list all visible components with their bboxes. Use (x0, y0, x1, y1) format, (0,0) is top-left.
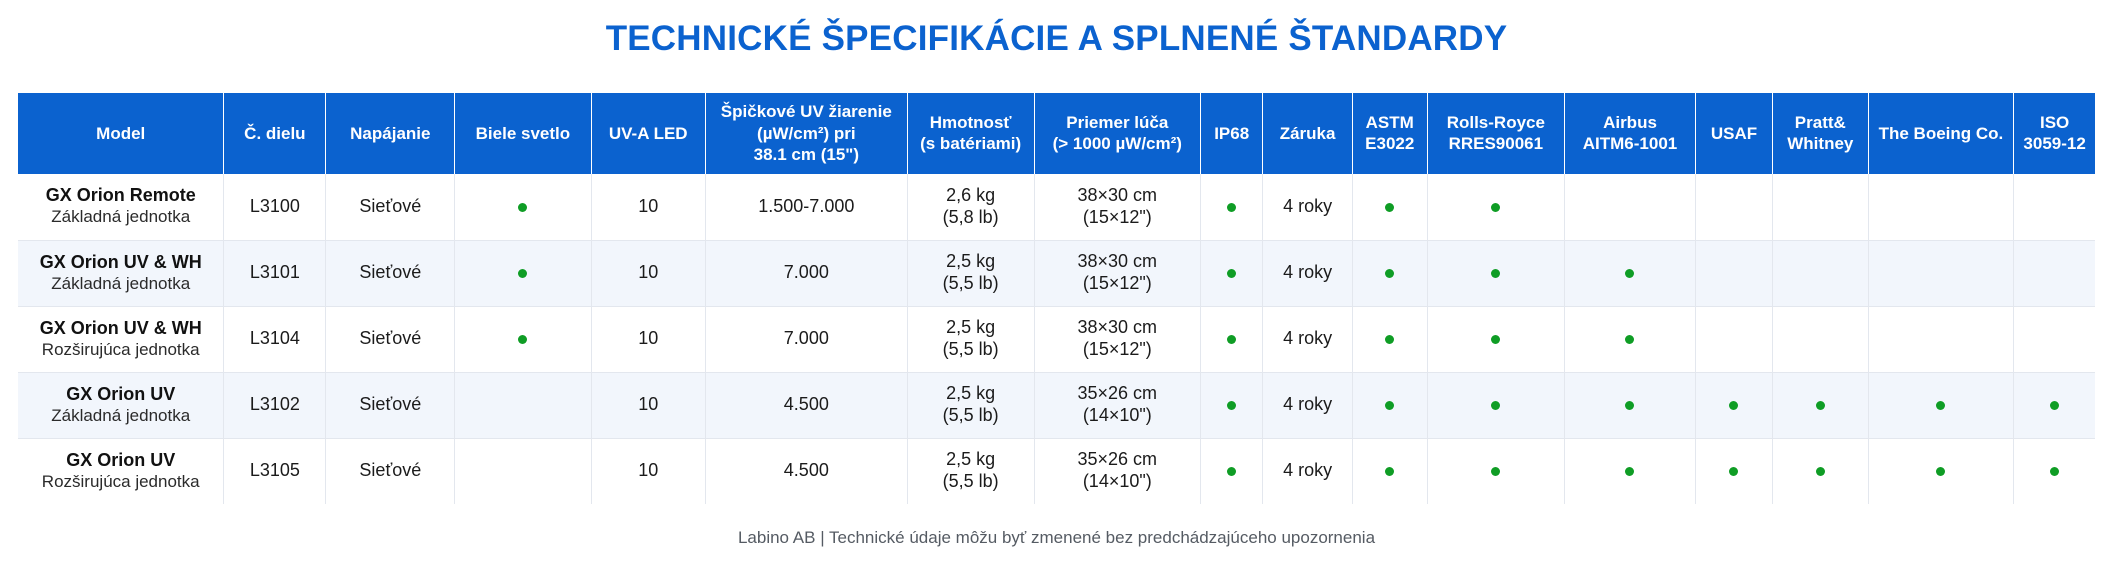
cell-astm (1352, 438, 1427, 504)
cell-uv-irradiance-value: 7.000 (784, 262, 829, 282)
table-row: GX Orion UV & WHRozširujúca jednotkaL310… (18, 306, 2095, 372)
cell-pratt-whitney (1772, 174, 1868, 240)
cell-iso (2014, 438, 2095, 504)
column-header-line: Biele svetlo (459, 123, 586, 145)
cell-weight-line2: (5,5 lb) (913, 471, 1029, 493)
cell-rolls-royce (1427, 438, 1564, 504)
check-dot-icon (1625, 269, 1634, 278)
check-dot-icon (1385, 401, 1394, 410)
cell-white-light (455, 240, 591, 306)
cell-rolls-royce (1427, 306, 1564, 372)
column-header-line: 38.1 cm (15") (710, 144, 903, 166)
check-dot-icon (1936, 467, 1945, 476)
check-dot-icon (1625, 335, 1634, 344)
column-header-line: Airbus (1569, 112, 1691, 134)
cell-part-number: L3100 (224, 174, 326, 240)
check-dot-icon (1936, 401, 1945, 410)
cell-beam-diameter: 35×26 cm(14×10") (1034, 438, 1200, 504)
column-header-7: Priemer lúča(> 1000 µW/cm²) (1034, 93, 1200, 174)
cell-beam-diameter-line2: (15×12") (1040, 339, 1195, 361)
cell-boeing (1868, 306, 2014, 372)
spec-table-container: ModelČ. dieluNapájanieBiele svetloUV-A L… (18, 61, 2095, 504)
cell-model: GX Orion UVRozširujúca jednotka (18, 438, 224, 504)
cell-boeing (1868, 174, 2014, 240)
cell-uv-irradiance: 7.000 (705, 240, 907, 306)
column-header-line: E3022 (1357, 133, 1423, 155)
column-header-11: Rolls-RoyceRRES90061 (1427, 93, 1564, 174)
model-name: GX Orion UV (23, 450, 218, 472)
cell-beam-diameter-line2: (15×12") (1040, 207, 1195, 229)
table-row: GX Orion RemoteZákladná jednotkaL3100Sie… (18, 174, 2095, 240)
column-header-line: Pratt& (1777, 112, 1864, 134)
column-header-line: Rolls-Royce (1432, 112, 1560, 134)
cell-boeing (1868, 372, 2014, 438)
column-header-line: Záruka (1267, 123, 1347, 145)
cell-power-value: Sieťové (359, 328, 421, 348)
column-header-line: Č. dielu (228, 123, 321, 145)
cell-part-number-value: L3100 (250, 196, 300, 216)
cell-uva-led-value: 10 (638, 394, 658, 414)
cell-uva-led: 10 (591, 306, 705, 372)
cell-weight: 2,5 kg(5,5 lb) (907, 438, 1034, 504)
check-dot-icon (1227, 269, 1236, 278)
cell-warranty: 4 roky (1263, 372, 1352, 438)
column-header-line: USAF (1700, 123, 1768, 145)
check-dot-icon (1625, 401, 1634, 410)
cell-iso (2014, 174, 2095, 240)
cell-white-light (455, 174, 591, 240)
cell-uva-led: 10 (591, 174, 705, 240)
check-dot-icon (1729, 401, 1738, 410)
model-name: GX Orion UV & WH (23, 318, 218, 340)
check-dot-icon (2050, 467, 2059, 476)
model-name: GX Orion Remote (23, 185, 218, 207)
cell-usaf (1696, 306, 1773, 372)
model-subtitle: Rozširujúca jednotka (23, 340, 218, 361)
footer-note: Labino AB | Technické údaje môžu byť zme… (0, 504, 2113, 548)
check-dot-icon (1729, 467, 1738, 476)
spec-sheet-page: TECHNICKÉ ŠPECIFIKÁCIE A SPLNENÉ ŠTANDAR… (0, 0, 2113, 588)
cell-uva-led-value: 10 (638, 460, 658, 480)
cell-power: Sieťové (326, 306, 455, 372)
model-subtitle: Základná jednotka (23, 207, 218, 228)
cell-part-number: L3104 (224, 306, 326, 372)
cell-warranty-value: 4 roky (1283, 460, 1332, 480)
cell-power-value: Sieťové (359, 460, 421, 480)
cell-power-value: Sieťové (359, 262, 421, 282)
column-header-15: The Boeing Co. (1868, 93, 2014, 174)
column-header-2: Napájanie (326, 93, 455, 174)
table-row: GX Orion UVRozširujúca jednotkaL3105Sieť… (18, 438, 2095, 504)
column-header-14: Pratt&Whitney (1772, 93, 1868, 174)
cell-beam-diameter: 38×30 cm(15×12") (1034, 174, 1200, 240)
table-body: GX Orion RemoteZákladná jednotkaL3100Sie… (18, 174, 2095, 504)
cell-uv-irradiance-value: 4.500 (784, 394, 829, 414)
column-header-line: IP68 (1205, 123, 1258, 145)
model-name: GX Orion UV & WH (23, 252, 218, 274)
column-header-line: Whitney (1777, 133, 1864, 155)
cell-pratt-whitney (1772, 240, 1868, 306)
cell-uv-irradiance: 7.000 (705, 306, 907, 372)
cell-weight-line1: 2,5 kg (913, 251, 1029, 273)
check-dot-icon (518, 269, 527, 278)
cell-astm (1352, 306, 1427, 372)
cell-beam-diameter: 35×26 cm(14×10") (1034, 372, 1200, 438)
column-header-line: AITM6-1001 (1569, 133, 1691, 155)
cell-beam-diameter-line1: 35×26 cm (1040, 383, 1195, 405)
model-subtitle: Základná jednotka (23, 274, 218, 295)
cell-astm (1352, 372, 1427, 438)
check-dot-icon (1227, 203, 1236, 212)
cell-ip68 (1200, 306, 1262, 372)
cell-weight: 2,5 kg(5,5 lb) (907, 240, 1034, 306)
cell-weight-line1: 2,6 kg (913, 185, 1029, 207)
cell-beam-diameter-line2: (14×10") (1040, 471, 1195, 493)
column-header-6: Hmotnosť(s batériami) (907, 93, 1034, 174)
cell-uva-led-value: 10 (638, 262, 658, 282)
cell-power-value: Sieťové (359, 394, 421, 414)
column-header-5: Špičkové UV žiarenie(µW/cm²) pri38.1 cm … (705, 93, 907, 174)
cell-ip68 (1200, 438, 1262, 504)
column-header-line: 3059-12 (2018, 133, 2091, 155)
column-header-line: Napájanie (330, 123, 450, 145)
cell-model: GX Orion UV & WHRozširujúca jednotka (18, 306, 224, 372)
cell-airbus (1564, 174, 1695, 240)
cell-usaf (1696, 240, 1773, 306)
check-dot-icon (1491, 401, 1500, 410)
cell-model: GX Orion UV & WHZákladná jednotka (18, 240, 224, 306)
column-header-line: RRES90061 (1432, 133, 1560, 155)
column-header-line: (s batériami) (912, 133, 1030, 155)
table-row: GX Orion UVZákladná jednotkaL3102Sieťové… (18, 372, 2095, 438)
cell-airbus (1564, 438, 1695, 504)
cell-usaf (1696, 438, 1773, 504)
check-dot-icon (518, 335, 527, 344)
check-dot-icon (1625, 467, 1634, 476)
cell-beam-diameter-line2: (14×10") (1040, 405, 1195, 427)
cell-weight-line2: (5,5 lb) (913, 339, 1029, 361)
cell-uv-irradiance-value: 1.500-7.000 (758, 196, 854, 216)
cell-uv-irradiance-value: 7.000 (784, 328, 829, 348)
cell-part-number: L3101 (224, 240, 326, 306)
check-dot-icon (1491, 203, 1500, 212)
check-dot-icon (1385, 269, 1394, 278)
cell-weight: 2,6 kg(5,8 lb) (907, 174, 1034, 240)
column-header-12: AirbusAITM6-1001 (1564, 93, 1695, 174)
model-subtitle: Základná jednotka (23, 406, 218, 427)
check-dot-icon (1816, 401, 1825, 410)
cell-part-number: L3105 (224, 438, 326, 504)
cell-airbus (1564, 306, 1695, 372)
column-header-1: Č. dielu (224, 93, 326, 174)
cell-rolls-royce (1427, 174, 1564, 240)
check-dot-icon (1816, 467, 1825, 476)
column-header-13: USAF (1696, 93, 1773, 174)
cell-astm (1352, 174, 1427, 240)
cell-usaf (1696, 174, 1773, 240)
cell-white-light (455, 372, 591, 438)
cell-airbus (1564, 372, 1695, 438)
cell-ip68 (1200, 240, 1262, 306)
check-dot-icon (2050, 401, 2059, 410)
cell-model: GX Orion UVZákladná jednotka (18, 372, 224, 438)
cell-iso (2014, 306, 2095, 372)
cell-uva-led-value: 10 (638, 328, 658, 348)
header-row: ModelČ. dieluNapájanieBiele svetloUV-A L… (18, 93, 2095, 174)
cell-part-number-value: L3101 (250, 262, 300, 282)
check-dot-icon (1385, 335, 1394, 344)
cell-ip68 (1200, 372, 1262, 438)
cell-boeing (1868, 438, 2014, 504)
column-header-4: UV-A LED (591, 93, 705, 174)
cell-warranty-value: 4 roky (1283, 196, 1332, 216)
specifications-table: ModelČ. dieluNapájanieBiele svetloUV-A L… (18, 93, 2095, 504)
cell-warranty: 4 roky (1263, 438, 1352, 504)
cell-uva-led-value: 10 (638, 196, 658, 216)
column-header-line: The Boeing Co. (1873, 123, 2010, 145)
column-header-8: IP68 (1200, 93, 1262, 174)
cell-warranty: 4 roky (1263, 240, 1352, 306)
cell-white-light (455, 438, 591, 504)
table-header: ModelČ. dieluNapájanieBiele svetloUV-A L… (18, 93, 2095, 174)
cell-beam-diameter: 38×30 cm(15×12") (1034, 306, 1200, 372)
cell-white-light (455, 306, 591, 372)
column-header-10: ASTME3022 (1352, 93, 1427, 174)
cell-pratt-whitney (1772, 372, 1868, 438)
check-dot-icon (1491, 269, 1500, 278)
cell-pratt-whitney (1772, 306, 1868, 372)
cell-iso (2014, 240, 2095, 306)
cell-weight: 2,5 kg(5,5 lb) (907, 372, 1034, 438)
column-header-line: (µW/cm²) pri (710, 123, 903, 145)
cell-uv-irradiance: 4.500 (705, 372, 907, 438)
table-row: GX Orion UV & WHZákladná jednotkaL3101Si… (18, 240, 2095, 306)
check-dot-icon (1385, 203, 1394, 212)
column-header-line: Priemer lúča (1039, 112, 1196, 134)
cell-weight-line1: 2,5 kg (913, 383, 1029, 405)
cell-model: GX Orion RemoteZákladná jednotka (18, 174, 224, 240)
cell-weight-line1: 2,5 kg (913, 449, 1029, 471)
cell-part-number-value: L3102 (250, 394, 300, 414)
cell-uva-led: 10 (591, 240, 705, 306)
cell-uva-led: 10 (591, 438, 705, 504)
cell-warranty-value: 4 roky (1283, 328, 1332, 348)
cell-boeing (1868, 240, 2014, 306)
cell-ip68 (1200, 174, 1262, 240)
cell-power: Sieťové (326, 372, 455, 438)
page-title: TECHNICKÉ ŠPECIFIKÁCIE A SPLNENÉ ŠTANDAR… (0, 0, 2113, 61)
model-subtitle: Rozširujúca jednotka (23, 472, 218, 493)
cell-airbus (1564, 240, 1695, 306)
cell-usaf (1696, 372, 1773, 438)
cell-beam-diameter-line1: 38×30 cm (1040, 317, 1195, 339)
cell-power: Sieťové (326, 240, 455, 306)
cell-warranty: 4 roky (1263, 306, 1352, 372)
cell-weight-line1: 2,5 kg (913, 317, 1029, 339)
cell-uva-led: 10 (591, 372, 705, 438)
cell-rolls-royce (1427, 240, 1564, 306)
cell-warranty-value: 4 roky (1283, 262, 1332, 282)
cell-part-number-value: L3104 (250, 328, 300, 348)
cell-power-value: Sieťové (359, 196, 421, 216)
cell-power: Sieťové (326, 174, 455, 240)
column-header-9: Záruka (1263, 93, 1352, 174)
column-header-line: ISO (2018, 112, 2091, 134)
cell-warranty-value: 4 roky (1283, 394, 1332, 414)
cell-beam-diameter: 38×30 cm(15×12") (1034, 240, 1200, 306)
cell-uv-irradiance: 1.500-7.000 (705, 174, 907, 240)
cell-power: Sieťové (326, 438, 455, 504)
column-header-line: ASTM (1357, 112, 1423, 134)
column-header-line: UV-A LED (596, 123, 701, 145)
check-dot-icon (1491, 467, 1500, 476)
cell-weight-line2: (5,5 lb) (913, 405, 1029, 427)
column-header-line: (> 1000 µW/cm²) (1039, 133, 1196, 155)
cell-part-number: L3102 (224, 372, 326, 438)
column-header-line: Hmotnosť (912, 112, 1030, 134)
cell-beam-diameter-line1: 38×30 cm (1040, 185, 1195, 207)
check-dot-icon (1227, 401, 1236, 410)
cell-iso (2014, 372, 2095, 438)
cell-weight-line2: (5,8 lb) (913, 207, 1029, 229)
check-dot-icon (1227, 335, 1236, 344)
cell-rolls-royce (1427, 372, 1564, 438)
cell-beam-diameter-line1: 38×30 cm (1040, 251, 1195, 273)
cell-astm (1352, 240, 1427, 306)
column-header-line: Špičkové UV žiarenie (710, 101, 903, 123)
column-header-3: Biele svetlo (455, 93, 591, 174)
model-name: GX Orion UV (23, 384, 218, 406)
check-dot-icon (1385, 467, 1394, 476)
cell-pratt-whitney (1772, 438, 1868, 504)
check-dot-icon (518, 203, 527, 212)
cell-beam-diameter-line1: 35×26 cm (1040, 449, 1195, 471)
cell-warranty: 4 roky (1263, 174, 1352, 240)
cell-uv-irradiance-value: 4.500 (784, 460, 829, 480)
cell-weight-line2: (5,5 lb) (913, 273, 1029, 295)
check-dot-icon (1491, 335, 1500, 344)
cell-part-number-value: L3105 (250, 460, 300, 480)
column-header-0: Model (18, 93, 224, 174)
column-header-16: ISO3059-12 (2014, 93, 2095, 174)
cell-beam-diameter-line2: (15×12") (1040, 273, 1195, 295)
column-header-line: Model (22, 123, 219, 145)
cell-weight: 2,5 kg(5,5 lb) (907, 306, 1034, 372)
cell-uv-irradiance: 4.500 (705, 438, 907, 504)
check-dot-icon (1227, 467, 1236, 476)
